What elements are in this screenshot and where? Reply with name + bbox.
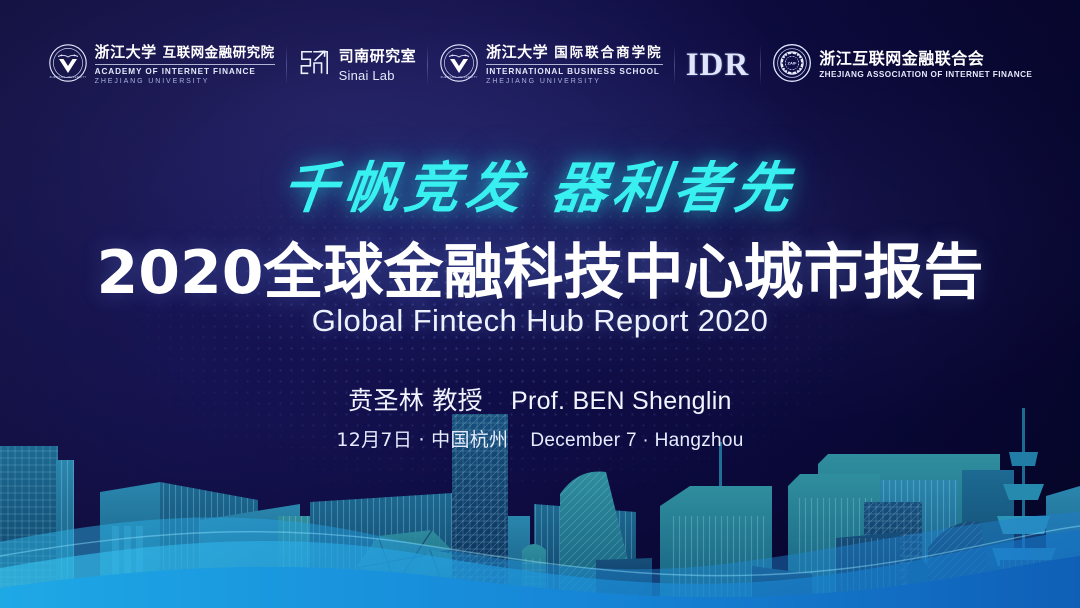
logo-sinai-lab[interactable]: 司南研究室 Sinai Lab	[287, 48, 428, 83]
zhejiang-university-seal-icon: ZHEJIANG UNIVERSITY	[48, 43, 88, 88]
speaker-name-en: Prof. BEN Shenglin	[511, 387, 732, 415]
page-title-en: Global Fintech Hub Report 2020	[0, 303, 1080, 339]
calligraphy-headline: 千帆竞发 器利者先	[0, 143, 1080, 223]
speaker-line: 贲圣林 教授Prof. BEN Shenglin	[0, 381, 1080, 417]
logo-academy-en-name: ACADEMY OF INTERNET FINANCE	[95, 68, 275, 76]
logo-sinai-cn-name: 司南研究室	[339, 49, 417, 64]
idr-wordmark: IDR	[686, 47, 750, 84]
svg-text:ZHEJIANG UNIVERSITY: ZHEJIANG UNIVERSITY	[49, 75, 86, 79]
date-location-en: December 7 · Hangzhou	[530, 430, 743, 451]
svg-text:ZAIF: ZAIF	[788, 60, 797, 65]
logo-zhejiang-association-internet-finance[interactable]: ZAIF 浙江互联网金融联合会 ZHEJIANG ASSOCIATION OF …	[761, 43, 1043, 88]
zhejiang-university-seal-icon: ZHEJIANG UNIVERSITY	[439, 43, 479, 88]
logo-academy-cn-name: 浙江大学	[95, 45, 157, 60]
date-location-line: 12月7日 · 中国杭州December 7 · Hangzhou	[0, 425, 1080, 452]
sponsor-logo-bar: ZHEJIANG UNIVERSITY 浙江大学 互联网金融研究院 ACADEM…	[0, 34, 1080, 96]
logo-international-business-school[interactable]: ZHEJIANG UNIVERSITY 浙江大学 国际联合商学院 INTERNA…	[428, 43, 674, 88]
svg-text:ZHEJIANG UNIVERSITY: ZHEJIANG UNIVERSITY	[441, 75, 478, 79]
logo-academy-cn-sub: 互联网金融研究院	[163, 47, 275, 61]
logo-ibs-cn-sub: 国际联合商学院	[554, 47, 663, 61]
logo-idr[interactable]: IDR	[675, 47, 761, 84]
logo-academy-of-internet-finance[interactable]: ZHEJIANG UNIVERSITY 浙江大学 互联网金融研究院 ACADEM…	[37, 43, 286, 88]
logo-ibs-text: 浙江大学 国际联合商学院 INTERNATIONAL BUSINESS SCHO…	[486, 45, 663, 85]
logo-zaif-cn-name: 浙江互联网金融联合会	[819, 51, 1032, 67]
logo-academy-rule	[95, 64, 275, 65]
logo-ibs-rule	[486, 64, 663, 65]
zaif-seal-icon: ZAIF	[772, 43, 812, 88]
logo-ibs-en-name: INTERNATIONAL BUSINESS SCHOOL	[486, 68, 663, 76]
page-title-cn: 2020全球金融科技中心城市报告	[0, 224, 1080, 311]
logo-sinai-en-name: Sinai Lab	[339, 69, 417, 82]
logo-ibs-cn-name: 浙江大学	[486, 45, 548, 60]
logo-ibs-en-sub: ZHEJIANG UNIVERSITY	[486, 78, 663, 85]
sinai-lab-mark-icon	[298, 48, 332, 83]
logo-academy-text: 浙江大学 互联网金融研究院 ACADEMY OF INTERNET FINANC…	[95, 45, 275, 85]
logo-academy-en-sub: ZHEJIANG UNIVERSITY	[95, 78, 275, 85]
date-location-cn: 12月7日 · 中国杭州	[336, 429, 508, 451]
poster-slide: ZHEJIANG UNIVERSITY 浙江大学 互联网金融研究院 ACADEM…	[0, 0, 1080, 608]
speaker-name-cn: 贲圣林 教授	[348, 386, 483, 415]
logo-sinai-text: 司南研究室 Sinai Lab	[339, 49, 417, 82]
logo-zaif-en-name: ZHEJIANG ASSOCIATION OF INTERNET FINANCE	[819, 71, 1032, 79]
logo-zaif-text: 浙江互联网金融联合会 ZHEJIANG ASSOCIATION OF INTER…	[819, 51, 1032, 79]
